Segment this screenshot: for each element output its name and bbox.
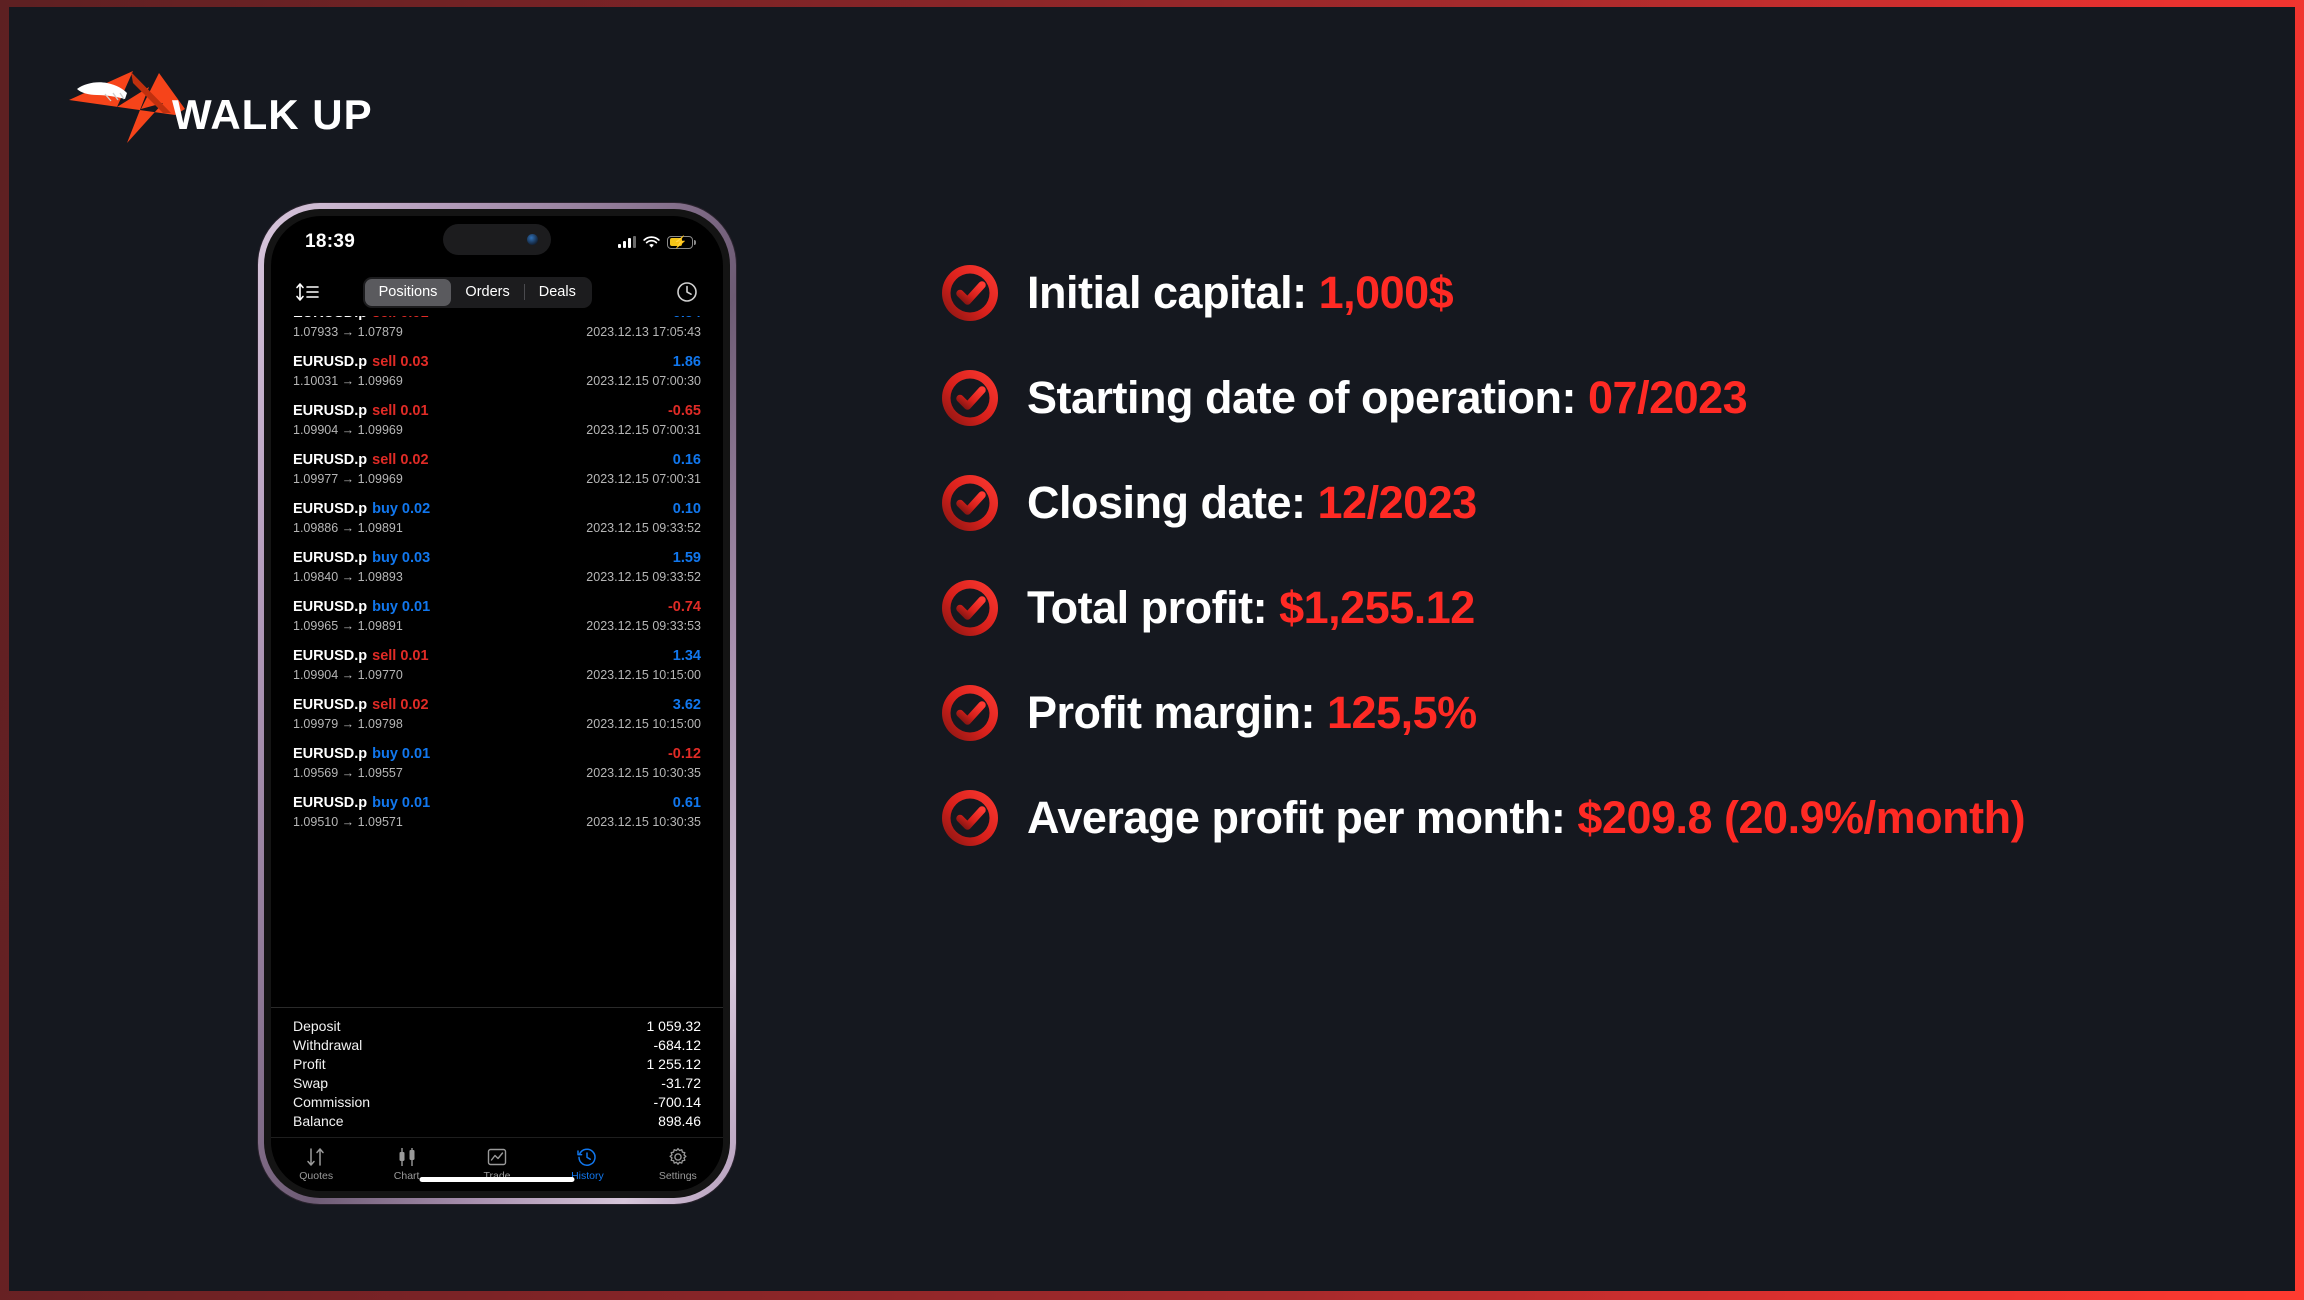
tab-orders[interactable]: Orders xyxy=(451,279,523,306)
home-indicator[interactable] xyxy=(420,1177,575,1182)
deal-prices: 1.10031 → 1.09969 xyxy=(293,374,403,388)
check-circle-icon xyxy=(939,367,1001,429)
deal-side-volume: sell 0.01 xyxy=(372,403,428,419)
tab-label: Quotes xyxy=(299,1170,333,1182)
check-circle-icon xyxy=(939,682,1001,744)
deal-symbol: EURUSD.p xyxy=(293,316,367,321)
check-circle-icon xyxy=(939,577,1001,639)
account-summary: Deposit1 059.32Withdrawal-684.12Profit1 … xyxy=(271,1007,723,1137)
summary-label: Profit xyxy=(293,1056,326,1072)
deal-profit: 0.16 xyxy=(673,452,701,468)
summary-row: Withdrawal-684.12 xyxy=(293,1035,701,1054)
deal-profit: -0.65 xyxy=(668,403,701,419)
deal-row[interactable]: EURUSD.psell 0.010.541.07933 → 1.0787920… xyxy=(271,316,723,346)
stats-item: Initial capital: 1,000$ xyxy=(939,262,2269,324)
summary-value: 1 255.12 xyxy=(647,1056,702,1072)
deal-profit: -0.12 xyxy=(668,746,701,762)
deal-timestamp: 2023.12.15 09:33:53 xyxy=(586,619,701,633)
poster-frame: WALK UP 18:39 ⚡ xyxy=(0,0,2304,1300)
deal-timestamp: 2023.12.13 17:05:43 xyxy=(586,325,701,339)
deal-timestamp: 2023.12.15 10:30:35 xyxy=(586,766,701,780)
deal-symbol: EURUSD.p xyxy=(293,452,367,468)
stats-value: 12/2023 xyxy=(1318,477,1477,528)
deal-side-volume: buy 0.01 xyxy=(372,599,430,615)
tab-label: Settings xyxy=(659,1170,697,1182)
deal-side-volume: sell 0.02 xyxy=(372,452,428,468)
deal-prices: 1.09886 → 1.09891 xyxy=(293,521,403,535)
phone-mockup: 18:39 ⚡ xyxy=(258,203,736,1204)
deal-list[interactable]: EURUSD.psell 0.010.541.07933 → 1.0787920… xyxy=(271,316,723,1007)
deal-symbol: EURUSD.p xyxy=(293,795,367,811)
stats-value: $209.8 (20.9%/month) xyxy=(1577,792,2025,843)
stats-label: Total profit: xyxy=(1027,582,1279,633)
clock-icon[interactable] xyxy=(675,280,699,304)
wifi-icon xyxy=(643,236,660,249)
deal-symbol: EURUSD.p xyxy=(293,550,367,566)
deal-timestamp: 2023.12.15 07:00:31 xyxy=(586,472,701,486)
status-indicators: ⚡ xyxy=(618,236,693,249)
deal-row[interactable]: EURUSD.pbuy 0.01-0.121.09569 → 1.0955720… xyxy=(271,745,723,787)
summary-row: Commission-700.14 xyxy=(293,1092,701,1111)
history-toolbar: Positions Orders Deals xyxy=(271,268,723,316)
deal-timestamp: 2023.12.15 10:15:00 xyxy=(586,668,701,682)
deal-profit: 0.10 xyxy=(673,501,701,517)
stats-item: Total profit: $1,255.12 xyxy=(939,577,2269,639)
deal-symbol: EURUSD.p xyxy=(293,354,367,370)
deal-row[interactable]: EURUSD.psell 0.020.161.09977 → 1.0996920… xyxy=(271,451,723,493)
stats-label: Average profit per month: xyxy=(1027,792,1577,843)
deal-row[interactable]: EURUSD.psell 0.031.861.10031 → 1.0996920… xyxy=(271,353,723,395)
status-bar: 18:39 ⚡ xyxy=(271,216,723,268)
stats-value: $1,255.12 xyxy=(1279,582,1475,633)
lightning-shoe-logo-icon: WALK UP xyxy=(67,65,407,145)
phone-screen: 18:39 ⚡ xyxy=(271,216,723,1191)
tab-positions[interactable]: Positions xyxy=(365,279,452,306)
clock-history-icon xyxy=(576,1147,598,1167)
deal-prices: 1.09904 → 1.09770 xyxy=(293,668,403,682)
poster-stage: WALK UP 18:39 ⚡ xyxy=(9,7,2295,1291)
summary-row: Profit1 255.12 xyxy=(293,1054,701,1073)
summary-label: Commission xyxy=(293,1094,370,1110)
tab-quotes[interactable]: Quotes xyxy=(271,1147,361,1182)
deal-side-volume: sell 0.03 xyxy=(372,354,428,370)
deal-side-volume: sell 0.02 xyxy=(372,697,428,713)
check-circle-icon xyxy=(939,262,1001,324)
deal-prices: 1.09965 → 1.09891 xyxy=(293,619,403,633)
deal-symbol: EURUSD.p xyxy=(293,746,367,762)
gear-icon xyxy=(667,1147,689,1167)
stats-label: Initial capital: xyxy=(1027,267,1319,318)
deal-profit: 0.61 xyxy=(673,795,701,811)
dynamic-island xyxy=(443,224,551,255)
deal-profit: 1.34 xyxy=(673,648,701,664)
summary-value: 1 059.32 xyxy=(647,1018,702,1034)
tab-label: History xyxy=(571,1170,604,1182)
sort-list-icon[interactable] xyxy=(293,281,321,303)
deal-side-volume: buy 0.01 xyxy=(372,746,430,762)
chart-square-icon xyxy=(486,1147,508,1167)
summary-value: -684.12 xyxy=(654,1037,701,1053)
deal-symbol: EURUSD.p xyxy=(293,697,367,713)
stats-item: Average profit per month: $209.8 (20.9%/… xyxy=(939,787,2269,849)
stats-value: 07/2023 xyxy=(1588,372,1747,423)
status-time: 18:39 xyxy=(305,231,355,253)
stats-text: Closing date: 12/2023 xyxy=(1027,479,1477,526)
summary-label: Deposit xyxy=(293,1018,340,1034)
deal-prices: 1.09840 → 1.09893 xyxy=(293,570,403,584)
summary-value: -31.72 xyxy=(661,1075,701,1091)
deal-prices: 1.09979 → 1.09798 xyxy=(293,717,403,731)
deal-row[interactable]: EURUSD.pbuy 0.020.101.09886 → 1.09891202… xyxy=(271,500,723,542)
summary-label: Balance xyxy=(293,1113,344,1129)
summary-row: Balance898.46 xyxy=(293,1111,701,1130)
stats-text: Total profit: $1,255.12 xyxy=(1027,584,1475,631)
deal-row[interactable]: EURUSD.pbuy 0.01-0.741.09965 → 1.0989120… xyxy=(271,598,723,640)
brand-logo: WALK UP xyxy=(67,65,407,145)
deal-symbol: EURUSD.p xyxy=(293,501,367,517)
deal-profit: -0.74 xyxy=(668,599,701,615)
deal-symbol: EURUSD.p xyxy=(293,648,367,664)
stats-text: Starting date of operation: 07/2023 xyxy=(1027,374,1747,421)
stats-item: Starting date of operation: 07/2023 xyxy=(939,367,2269,429)
deal-side-volume: sell 0.01 xyxy=(372,648,428,664)
deal-symbol: EURUSD.p xyxy=(293,599,367,615)
stats-list: Initial capital: 1,000$Starting date of … xyxy=(939,262,2269,849)
deal-profit: 1.59 xyxy=(673,550,701,566)
deal-profit: 3.62 xyxy=(673,697,701,713)
deal-side-volume: buy 0.03 xyxy=(372,550,430,566)
deal-timestamp: 2023.12.15 10:30:35 xyxy=(586,815,701,829)
deal-row[interactable]: EURUSD.pbuy 0.031.591.09840 → 1.09893202… xyxy=(271,549,723,591)
summary-row: Swap-31.72 xyxy=(293,1073,701,1092)
deal-symbol: EURUSD.p xyxy=(293,403,367,419)
stats-label: Profit margin: xyxy=(1027,687,1327,738)
check-circle-icon xyxy=(939,787,1001,849)
deal-timestamp: 2023.12.15 07:00:31 xyxy=(586,423,701,437)
deal-timestamp: 2023.12.15 10:15:00 xyxy=(586,717,701,731)
cellular-bars-icon xyxy=(618,236,636,248)
summary-label: Swap xyxy=(293,1075,328,1091)
battery-charging-icon: ⚡ xyxy=(667,236,693,249)
stats-label: Closing date: xyxy=(1027,477,1318,528)
stats-item: Closing date: 12/2023 xyxy=(939,472,2269,534)
deal-prices: 1.09904 → 1.09969 xyxy=(293,423,403,437)
deal-side-volume: buy 0.01 xyxy=(372,795,430,811)
deal-side-volume: buy 0.02 xyxy=(372,501,430,517)
deal-timestamp: 2023.12.15 09:33:52 xyxy=(586,521,701,535)
brand-wordmark: WALK UP xyxy=(172,91,373,138)
summary-value: -700.14 xyxy=(654,1094,701,1110)
bottom-tab-bar[interactable]: Quotes Chart Trade xyxy=(271,1137,723,1191)
deal-prices: 1.07933 → 1.07879 xyxy=(293,325,403,339)
stats-label: Starting date of operation: xyxy=(1027,372,1588,423)
stats-text: Profit margin: 125,5% xyxy=(1027,689,1477,736)
deal-timestamp: 2023.12.15 07:00:30 xyxy=(586,374,701,388)
candlestick-icon xyxy=(396,1147,418,1167)
stats-value: 1,000$ xyxy=(1319,267,1454,318)
deal-timestamp: 2023.12.15 09:33:52 xyxy=(586,570,701,584)
arrows-updown-icon xyxy=(305,1147,327,1167)
summary-row: Deposit1 059.32 xyxy=(293,1016,701,1035)
deal-row[interactable]: EURUSD.psell 0.011.341.09904 → 1.0977020… xyxy=(271,647,723,689)
deal-prices: 1.09569 → 1.09557 xyxy=(293,766,403,780)
deal-side-volume: sell 0.01 xyxy=(372,316,428,321)
tab-deals[interactable]: Deals xyxy=(525,279,590,306)
deal-row[interactable]: EURUSD.pbuy 0.010.611.09510 → 1.09571202… xyxy=(271,794,723,836)
stats-value: 125,5% xyxy=(1327,687,1477,738)
stats-item: Profit margin: 125,5% xyxy=(939,682,2269,744)
deal-profit: 1.86 xyxy=(673,354,701,370)
tab-label: Chart xyxy=(394,1170,420,1182)
deal-profit: 0.54 xyxy=(673,316,701,321)
summary-value: 898.46 xyxy=(658,1113,701,1129)
summary-label: Withdrawal xyxy=(293,1037,362,1053)
stats-text: Initial capital: 1,000$ xyxy=(1027,269,1453,316)
deal-prices: 1.09510 → 1.09571 xyxy=(293,815,403,829)
history-segmented-control[interactable]: Positions Orders Deals xyxy=(363,277,592,308)
deal-row[interactable]: EURUSD.psell 0.01-0.651.09904 → 1.099692… xyxy=(271,402,723,444)
tab-settings[interactable]: Settings xyxy=(633,1147,723,1182)
front-camera-icon xyxy=(527,234,538,245)
deal-row[interactable]: EURUSD.psell 0.023.621.09979 → 1.0979820… xyxy=(271,696,723,738)
check-circle-icon xyxy=(939,472,1001,534)
stats-text: Average profit per month: $209.8 (20.9%/… xyxy=(1027,794,2025,841)
deal-prices: 1.09977 → 1.09969 xyxy=(293,472,403,486)
phone-bezel: 18:39 ⚡ xyxy=(264,209,730,1198)
